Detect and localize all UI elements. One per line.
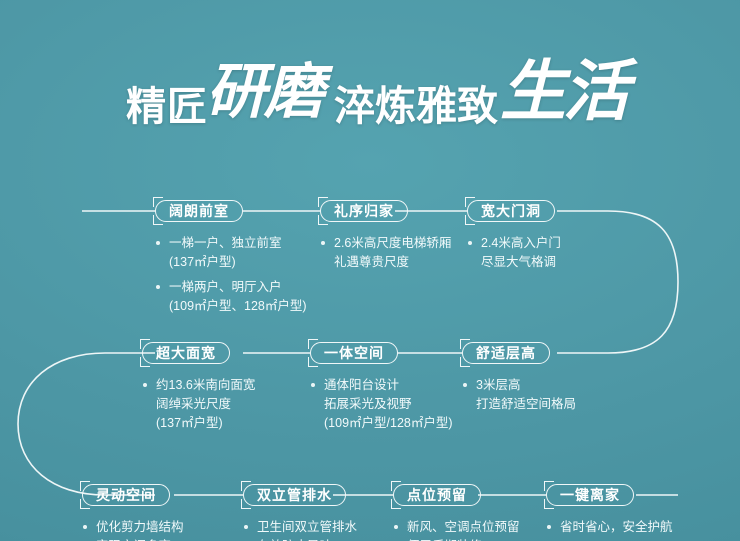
feature-block-shuangliguan-paishui: 双立管排水 卫生间双立管排水 有效防止异味 (243, 484, 357, 541)
poster-canvas: 精匠研磨淬炼雅致生活 阔朗前室 一梯一户、独立前室 (137㎡户型) (0, 0, 740, 541)
feature-title-chip[interactable]: 宽大门洞 (467, 200, 555, 222)
feature-block-shushi-cenggao: 舒适层高 3米层高 打造舒适空间格局 (462, 342, 576, 420)
feature-bullet-list: 通体阳台设计 拓展采光及视野 (109㎡户型/128㎡户型) (310, 376, 453, 432)
feature-title-label: 点位预留 (407, 487, 467, 503)
feature-block-yiti-kongjian: 一体空间 通体阳台设计 拓展采光及视野 (109㎡户型/128㎡户型) (310, 342, 453, 439)
bullet-main-text: 省时省心，安全护航 (560, 520, 673, 534)
feature-title-label: 灵动空间 (96, 487, 156, 503)
feature-bullet-list: 卫生间双立管排水 有效防止异味 (243, 518, 357, 541)
feature-bullet-list: 新风、空调点位预留 便于后期装修 (393, 518, 520, 541)
bullet-sub-text: 便于后期装修 (407, 537, 520, 541)
list-item: 一梯一户、独立前室 (137㎡户型) (155, 234, 307, 271)
bullet-dot-icon (547, 525, 551, 529)
feature-title-chip[interactable]: 双立管排水 (243, 484, 346, 506)
feature-block-kuanglang-qianshi: 阔朗前室 一梯一户、独立前室 (137㎡户型) 一梯两户、明厅入户 (109㎡户… (155, 200, 307, 322)
feature-bullet-list: 一梯一户、独立前室 (137㎡户型) 一梯两户、明厅入户 (109㎡户型、128… (155, 234, 307, 315)
feature-title-chip[interactable]: 阔朗前室 (155, 200, 243, 222)
feature-title-label: 宽大门洞 (481, 203, 541, 219)
bullet-sub-text: 有效防止异味 (257, 537, 357, 541)
bullet-dot-icon (463, 383, 467, 387)
line-right-uturn (557, 211, 678, 353)
bullet-main-text: 新风、空调点位预留 (407, 520, 520, 534)
bullet-dot-icon (156, 285, 160, 289)
bullet-sub-text: 打造舒适空间格局 (476, 395, 576, 413)
bullet-dot-icon (321, 241, 325, 245)
feature-title-chip[interactable]: 礼序归家 (320, 200, 408, 222)
feature-title-chip[interactable]: 舒适层高 (462, 342, 550, 364)
bullet-dot-icon (156, 241, 160, 245)
list-item: 通体阳台设计 拓展采光及视野 (109㎡户型/128㎡户型) (310, 376, 453, 432)
headline-part-1: 精匠 (126, 74, 208, 132)
bullet-main-text: 2.6米高尺度电梯轿厢 (334, 236, 451, 250)
bullet-sub-text: 阔绰采光尺度 (156, 395, 255, 413)
feature-bullet-list: 3米层高 打造舒适空间格局 (462, 376, 576, 413)
feature-title-chip[interactable]: 点位预留 (393, 484, 481, 506)
feature-block-kuanda-mendong: 宽大门洞 2.4米高入户门 尽显大气格调 (467, 200, 561, 278)
headline-part-4: 生活 (500, 38, 626, 134)
bullet-main-text: 卫生间双立管排水 (257, 520, 357, 534)
bullet-dot-icon (311, 383, 315, 387)
feature-title-chip[interactable]: 一体空间 (310, 342, 398, 364)
feature-block-dianwei-yuliu: 点位预留 新风、空调点位预留 便于后期装修 (393, 484, 520, 541)
feature-title-label: 礼序归家 (334, 203, 394, 219)
bullet-sub-text: 拓展采光及视野 (324, 395, 453, 413)
list-item: 3米层高 打造舒适空间格局 (462, 376, 576, 413)
line-left-uturn (18, 353, 155, 495)
feature-bullet-list: 2.6米高尺度电梯轿厢 礼遇尊贵尺度 (320, 234, 451, 271)
list-item: 新风、空调点位预留 便于后期装修 (393, 518, 520, 541)
list-item: 2.6米高尺度电梯轿厢 礼遇尊贵尺度 (320, 234, 451, 271)
bullet-sub-text: 实现空间多变 (96, 537, 184, 541)
bullet-main-text: 优化剪力墙结构 (96, 520, 184, 534)
list-item: 2.4米高入户门 尽显大气格调 (467, 234, 561, 271)
bullet-sub2-text: (109㎡户型/128㎡户型) (324, 414, 453, 432)
bullet-main-text: 通体阳台设计 (324, 378, 399, 392)
list-item: 省时省心，安全护航 (546, 518, 673, 536)
feature-bullet-list: 优化剪力墙结构 实现空间多变 (82, 518, 184, 541)
feature-block-lixu-guijia: 礼序归家 2.6米高尺度电梯轿厢 礼遇尊贵尺度 (320, 200, 451, 278)
bullet-main-text: 3米层高 (476, 378, 520, 392)
bullet-sub-text: 尽显大气格调 (481, 253, 561, 271)
feature-block-lingdong-kongjian: 灵动空间 优化剪力墙结构 实现空间多变 (82, 484, 184, 541)
bullet-dot-icon (143, 383, 147, 387)
feature-title-label: 超大面宽 (156, 345, 216, 361)
bullet-sub2-text: (137㎡户型) (156, 414, 255, 432)
feature-bullet-list: 2.4米高入户门 尽显大气格调 (467, 234, 561, 271)
list-item: 卫生间双立管排水 有效防止异味 (243, 518, 357, 541)
bullet-main-text: 一梯两户、明厅入户 (169, 280, 282, 294)
bullet-sub-text: (137㎡户型) (169, 253, 307, 271)
feature-title-chip[interactable]: 一键离家 (546, 484, 634, 506)
list-item: 一梯两户、明厅入户 (109㎡户型、128㎡户型) (155, 278, 307, 315)
feature-title-label: 双立管排水 (257, 487, 332, 503)
feature-title-chip[interactable]: 灵动空间 (82, 484, 170, 506)
feature-block-chaoda-mianku: 超大面宽 约13.6米南向面宽 阔绰采光尺度 (137㎡户型) (142, 342, 255, 439)
feature-title-label: 阔朗前室 (169, 203, 229, 219)
feature-title-label: 一键离家 (560, 487, 620, 503)
feature-bullet-list: 省时省心，安全护航 (546, 518, 673, 536)
bullet-main-text: 2.4米高入户门 (481, 236, 561, 250)
headline-part-2: 研磨 (206, 43, 322, 130)
feature-title-chip[interactable]: 超大面宽 (142, 342, 230, 364)
bullet-dot-icon (244, 525, 248, 529)
feature-block-yijian-lijia: 一键离家 省时省心，安全护航 (546, 484, 673, 541)
bullet-sub-text: 礼遇尊贵尺度 (334, 253, 451, 271)
bullet-dot-icon (394, 525, 398, 529)
list-item: 优化剪力墙结构 实现空间多变 (82, 518, 184, 541)
bullet-main-text: 约13.6米南向面宽 (156, 378, 255, 392)
list-item: 约13.6米南向面宽 阔绰采光尺度 (137㎡户型) (142, 376, 255, 432)
bullet-dot-icon (468, 241, 472, 245)
feature-title-label: 一体空间 (324, 345, 384, 361)
bullet-sub-text: (109㎡户型、128㎡户型) (169, 297, 307, 315)
feature-title-label: 舒适层高 (476, 345, 536, 361)
headline-part-3: 淬炼雅致 (334, 72, 498, 132)
page-title: 精匠研磨淬炼雅致生活 (0, 34, 740, 144)
bullet-main-text: 一梯一户、独立前室 (169, 236, 282, 250)
feature-bullet-list: 约13.6米南向面宽 阔绰采光尺度 (137㎡户型) (142, 376, 255, 432)
bullet-dot-icon (83, 525, 87, 529)
